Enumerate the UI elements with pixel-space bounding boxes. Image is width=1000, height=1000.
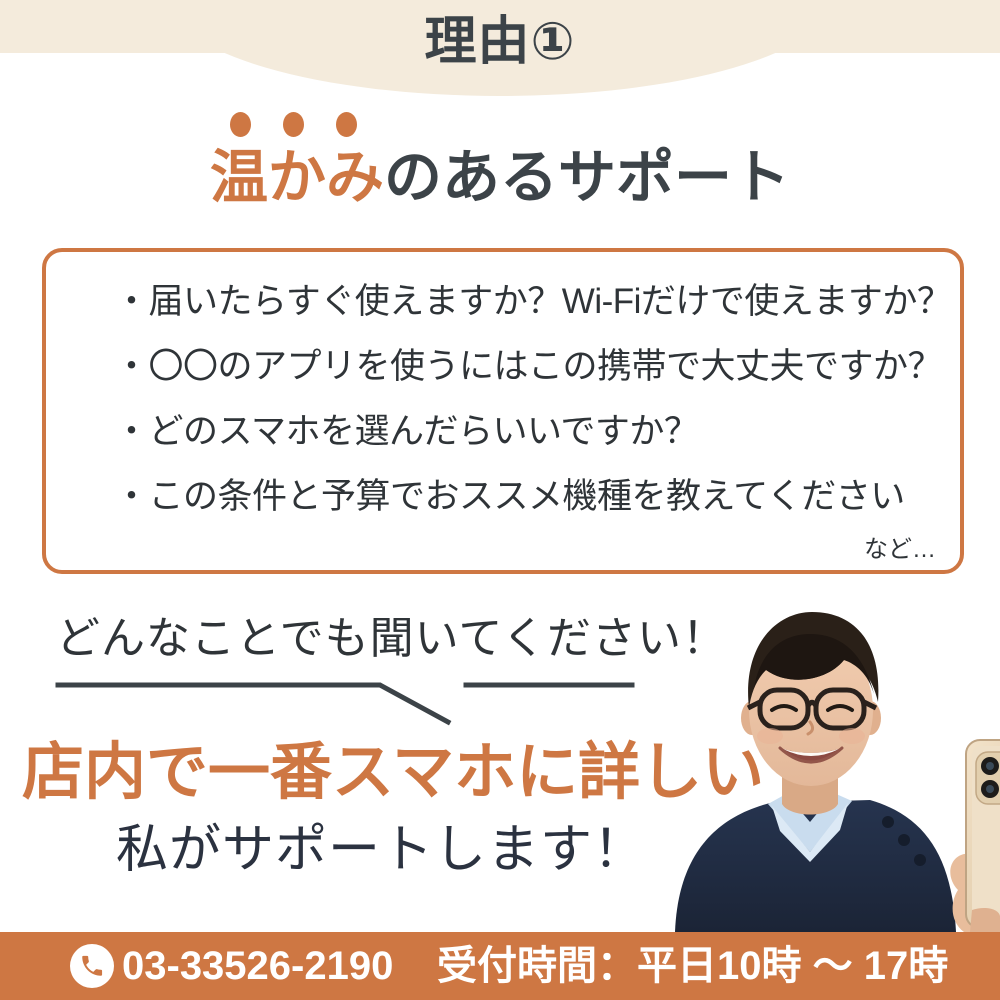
promo-subline: 私がサポートします！ bbox=[116, 824, 646, 876]
list-item: ・この条件と予算でおススメ機種を教えてください bbox=[114, 479, 964, 514]
heading-highlight: 温かみ bbox=[210, 145, 384, 210]
speech-bubble-underline-icon bbox=[0, 660, 700, 730]
list-item: ・〇〇のアプリを使うにはこの携帯で大丈夫ですか？ bbox=[114, 349, 964, 384]
list-item: ・どのスマホを選んだらいいですか？ bbox=[114, 414, 964, 449]
footer-bar: 03-33526-2190 受付時間：平日10時 〜 17時 bbox=[0, 932, 1000, 1000]
question-list-note: など… bbox=[864, 529, 936, 564]
staff-photo-illustration bbox=[620, 590, 1000, 932]
dot-icon bbox=[336, 112, 357, 137]
phone-glyph bbox=[79, 953, 105, 979]
heading-rest: のあるサポート bbox=[384, 145, 790, 210]
three-dots-emphasis-icon bbox=[224, 112, 374, 138]
section-heading: 温かみのあるサポート bbox=[0, 146, 1000, 211]
dot-icon bbox=[230, 112, 251, 137]
question-box: ・届いたらすぐ使えますか？Wi-Fiだけで使えますか？ ・〇〇のアプリを使うには… bbox=[42, 248, 964, 574]
staff-photo bbox=[620, 590, 1000, 932]
dot-icon bbox=[283, 112, 304, 137]
business-hours: 受付時間：平日10時 〜 17時 bbox=[437, 946, 948, 986]
question-list: ・届いたらすぐ使えますか？Wi-Fiだけで使えますか？ ・〇〇のアプリを使うには… bbox=[114, 284, 964, 514]
list-item: ・届いたらすぐ使えますか？Wi-Fiだけで使えますか？ bbox=[114, 284, 964, 319]
page-title: 理由① bbox=[0, 16, 1000, 68]
phone-number[interactable]: 03-33526-2190 bbox=[122, 946, 393, 986]
phone-icon bbox=[70, 944, 114, 988]
